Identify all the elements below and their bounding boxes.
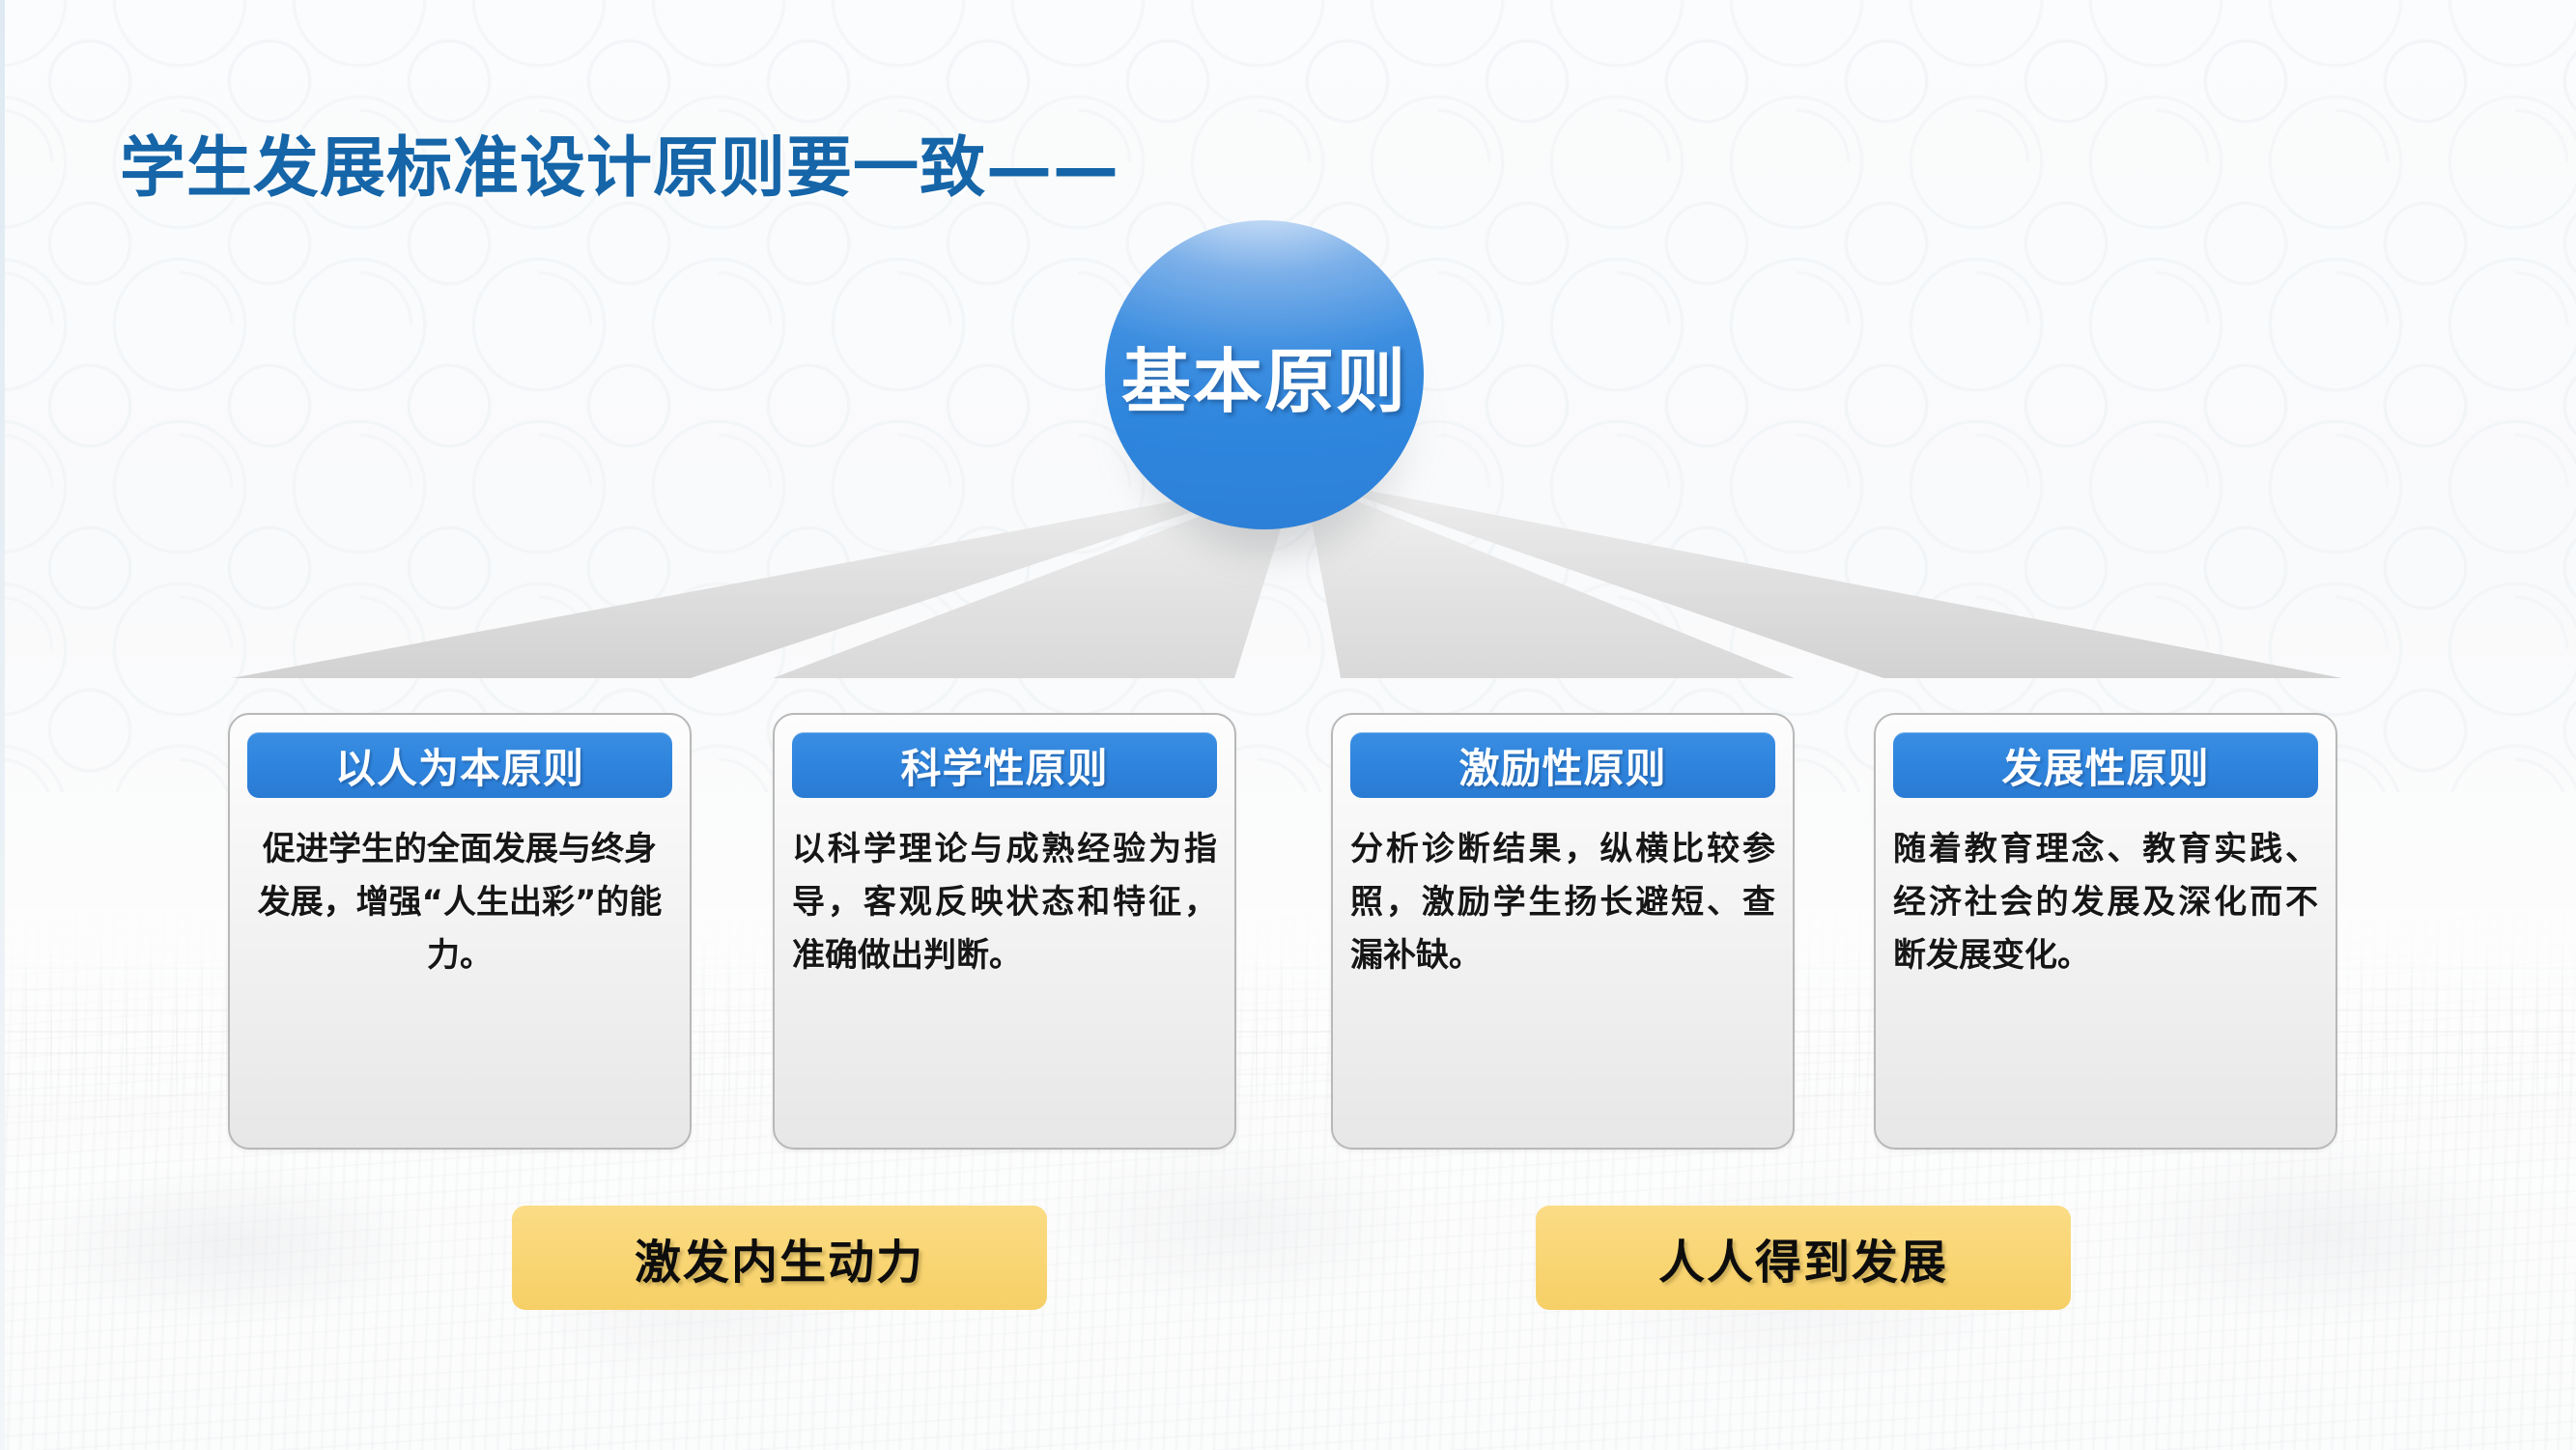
hub-sphere: 基本原则 (1105, 220, 1424, 529)
principle-card-row: 以人为本原则 促进学生的全面发展与终身发展，增强“人生出彩”的能力。 科学性原则… (0, 713, 2576, 1157)
principle-card-4[interactable]: 发展性原则 随着教育理念、教育实践、经济社会的发展及深化而不断发展变化。 (1874, 713, 2337, 1150)
principle-card-4-header: 发展性原则 (1893, 732, 2318, 798)
principle-card-1-title: 以人为本原则 (335, 736, 584, 795)
principle-card-2-header: 科学性原则 (792, 732, 1217, 798)
principle-card-2[interactable]: 科学性原则 以科学理论与成熟经验为指导，客观反映状态和特征，准确做出判断。 (773, 713, 1236, 1150)
principle-card-1-body: 促进学生的全面发展与终身发展，增强“人生出彩”的能力。 (247, 823, 672, 982)
principle-card-3-body: 分析诊断结果，纵横比较参照，激励学生扬长避短、查漏补缺。 (1350, 823, 1775, 982)
principle-card-4-title: 发展性原则 (2001, 736, 2209, 795)
slide-canvas: 学生发展标准设计原则要一致—— 基本原则 (0, 0, 2576, 1450)
principle-card-3-title: 激励性原则 (1458, 736, 1666, 795)
principle-card-2-title: 科学性原则 (900, 736, 1108, 795)
principle-card-1-header: 以人为本原则 (247, 732, 672, 798)
outcome-banner-left[interactable]: 激发内生动力 (512, 1206, 1047, 1310)
principle-card-3[interactable]: 激励性原则 分析诊断结果，纵横比较参照，激励学生扬长避短、查漏补缺。 (1331, 713, 1795, 1150)
principle-card-4-body: 随着教育理念、教育实践、经济社会的发展及深化而不断发展变化。 (1893, 823, 2318, 982)
principle-card-3-header: 激励性原则 (1350, 732, 1775, 798)
hub-sphere-label: 基本原则 (1121, 325, 1407, 426)
principle-card-2-body: 以科学理论与成熟经验为指导，客观反映状态和特征，准确做出判断。 (792, 823, 1217, 982)
outcome-banner-right-label: 人人得到发展 (1658, 1224, 1948, 1292)
page-title: 学生发展标准设计原则要一致—— (120, 114, 1119, 210)
outcome-banner-left-label: 激发内生动力 (635, 1224, 924, 1292)
hub-sphere-group: 基本原则 (1105, 220, 1424, 539)
outcome-banner-right[interactable]: 人人得到发展 (1536, 1206, 2071, 1310)
principle-card-1[interactable]: 以人为本原则 促进学生的全面发展与终身发展，增强“人生出彩”的能力。 (228, 713, 692, 1150)
